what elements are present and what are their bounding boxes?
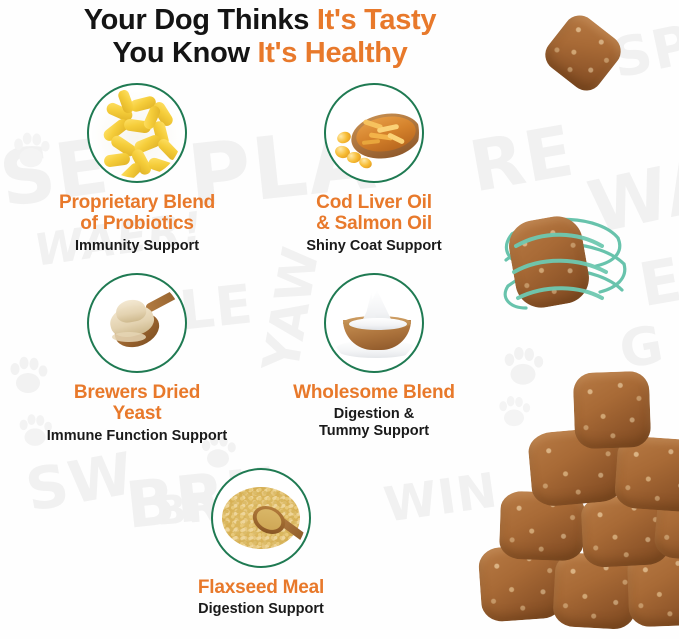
ingredient-probiotics: Proprietary Blend of Probiotics Immunity… [12,83,262,255]
watermark-text: SW [21,439,139,525]
infographic-canvas: SPE WAL RE E PLA SE WAER! SLE YAW SW BRU… [0,0,679,639]
ingredient-subtitle-line: Tummy Support [256,423,492,440]
ingredient-subtitle-line: Digestion & [256,406,492,423]
ingredient-title-line: of Probiotics [12,213,262,234]
white-powder-bowl-icon [324,273,424,373]
icon-art-flaxseed [216,473,306,563]
icon-art-probiotics [92,88,182,178]
probiotic-capsules-icon [87,83,187,183]
headline-line-1-accent: It's Tasty [317,4,436,36]
headline-line-1: Your Dog Thinks It's Tasty [0,4,520,37]
ingredient-fish-oil: Cod Liver Oil & Salmon Oil Shiny Coat Su… [258,83,490,255]
icon-art-yeast [92,278,182,368]
fish-oil-softgels-bowl-icon [324,83,424,183]
ingredient-title-line: Proprietary Blend [12,192,262,213]
headline-line-2-black: You Know [113,37,258,69]
ingredient-title-line: Cod Liver Oil [258,192,490,213]
ingredient-subtitle-line: Shiny Coat Support [258,238,490,255]
ingredient-title-line: Brewers Dried [12,382,262,403]
ingredient-title: Wholesome Blend [256,382,492,403]
icon-art-wholesome [329,278,419,368]
dog-food-kibble-with-teal-swirl [505,212,593,312]
ingredient-title: Brewers Dried Yeast [12,382,262,425]
ingredient-subtitle-line: Immune Function Support [12,428,262,445]
ingredient-title-line: Yeast [12,403,262,424]
ingredient-title-line: Flaxseed Meal [136,577,386,598]
ingredient-subtitle: Digestion Support [136,601,386,618]
watermark-text: WIN [381,462,502,533]
ingredient-title: Flaxseed Meal [136,577,386,598]
ingredient-subtitle-line: Immunity Support [12,238,262,255]
ingredient-title: Proprietary Blend of Probiotics [12,192,262,235]
ingredient-title: Cod Liver Oil & Salmon Oil [258,192,490,235]
ingredient-subtitle-line: Digestion Support [136,601,386,618]
dog-food-kibble-piece [539,9,628,97]
headline: Your Dog Thinks It's Tasty You Know It's… [0,0,520,70]
yeast-powder-spoon-icon [87,273,187,373]
ingredient-subtitle: Immune Function Support [12,428,262,445]
headline-line-1-black: Your Dog Thinks [84,4,317,36]
icon-art-fish-oil [329,88,419,178]
headline-line-2: You Know It's Healthy [0,37,520,70]
watermark-text: WAL [581,130,679,250]
ingredient-wholesome-blend: Wholesome Blend Digestion & Tummy Suppor… [256,273,492,440]
ingredient-brewers-yeast: Brewers Dried Yeast Immune Function Supp… [12,273,262,445]
ingredient-subtitle: Digestion & Tummy Support [256,406,492,440]
ingredient-subtitle: Immunity Support [12,238,262,255]
headline-line-2-accent: It's Healthy [258,37,408,69]
dog-food-kibble-pile [486,368,679,639]
ingredient-title-line: & Salmon Oil [258,213,490,234]
ingredient-title-line: Wholesome Blend [256,382,492,403]
ingredient-flaxseed-meal: Flaxseed Meal Digestion Support [136,468,386,618]
ingredient-subtitle: Shiny Coat Support [258,238,490,255]
flaxseed-spoon-icon [211,468,311,568]
watermark-text: E [634,245,679,321]
